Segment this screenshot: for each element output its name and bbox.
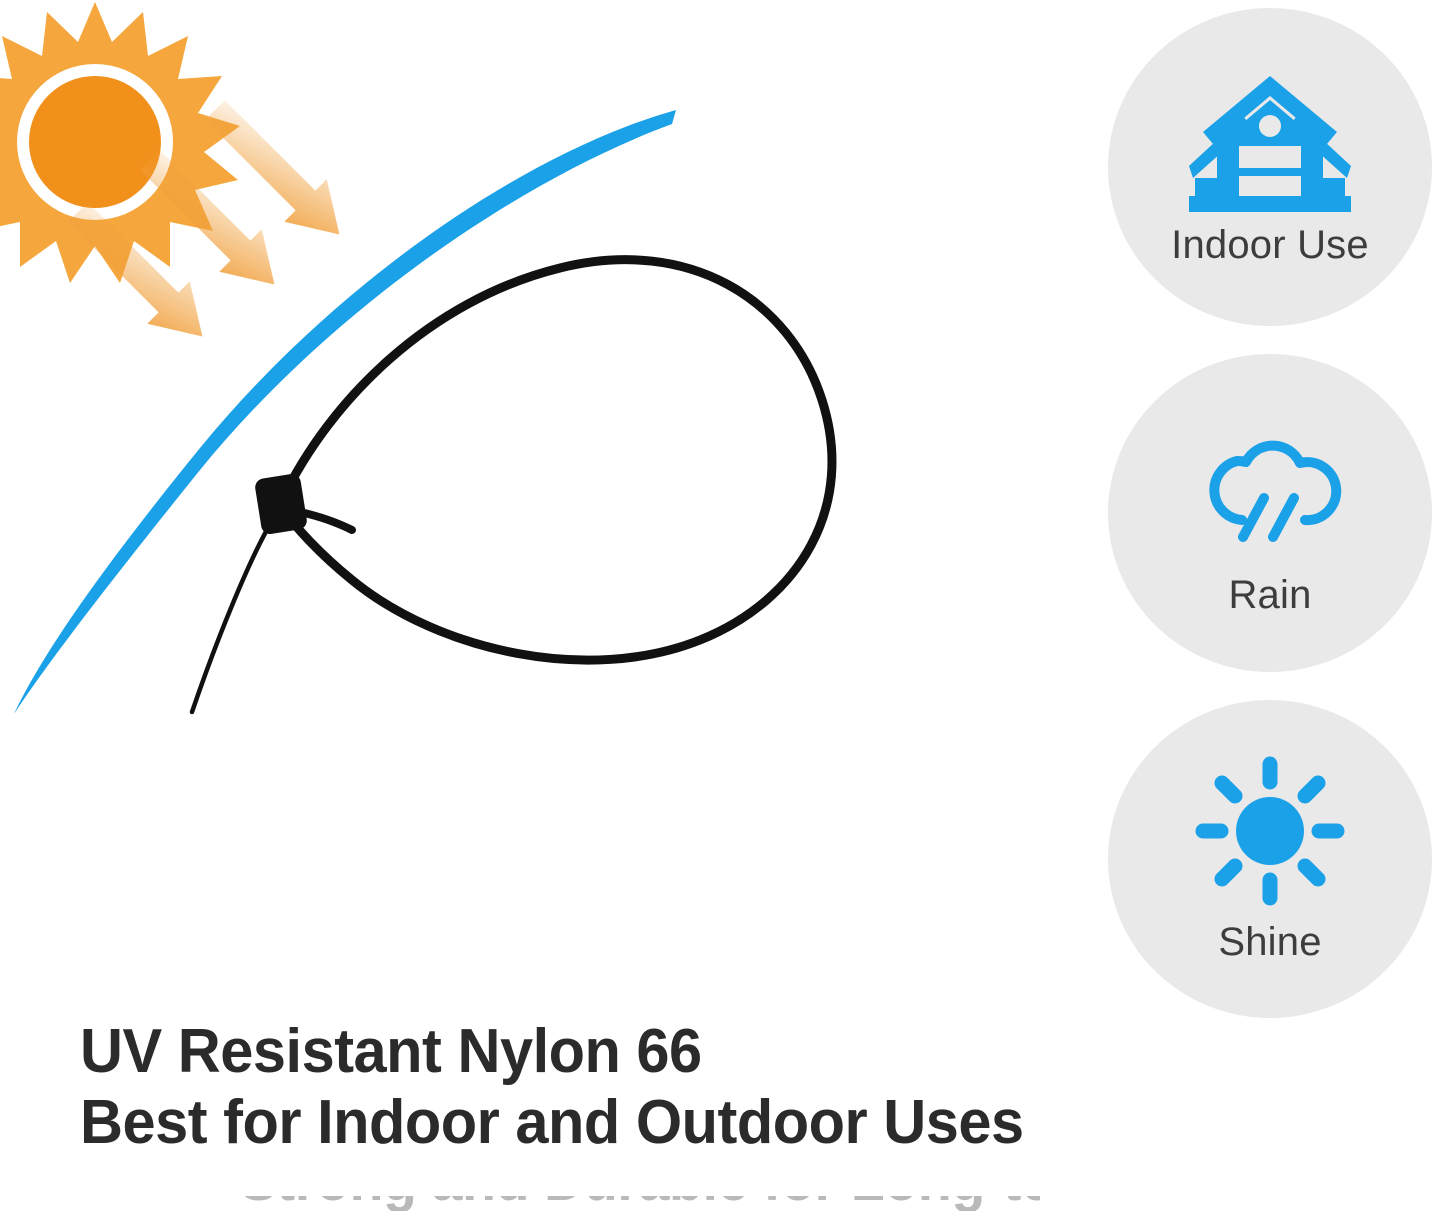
headline-line-1: UV Resistant Nylon 66: [80, 1016, 1002, 1087]
uv-resistance-illustration: [0, 0, 1060, 1000]
headline-line-3: Strong and Durable for Long-term Use: [240, 1196, 1008, 1210]
headline-line-3-cutoff: Strong and Durable for Long-term Use: [240, 1196, 1040, 1211]
feature-badge-rain[interactable]: Rain: [1108, 354, 1432, 672]
cable-tie-head: [254, 473, 308, 536]
feature-badge-indoor-use[interactable]: Indoor Use: [1108, 8, 1432, 326]
product-infographic: Indoor Use Rain: [0, 0, 1432, 1211]
house-icon: [1190, 69, 1350, 219]
sun-shine-icon: [1190, 756, 1350, 906]
feature-badge-label: Shine: [1218, 922, 1321, 962]
feature-badge-label: Rain: [1228, 575, 1311, 615]
feature-badge-label: Indoor Use: [1171, 225, 1369, 265]
feature-badge-column: Indoor Use Rain: [1108, 8, 1432, 1018]
rain-cloud-icon: [1190, 411, 1350, 561]
sun-core: [29, 76, 161, 208]
cable-tie-icon: [192, 260, 832, 712]
headline-line-2: Best for Indoor and Outdoor Uses: [80, 1087, 1002, 1158]
feature-badge-shine[interactable]: Shine: [1108, 700, 1432, 1018]
headline-block: UV Resistant Nylon 66 Best for Indoor an…: [80, 1016, 1040, 1158]
